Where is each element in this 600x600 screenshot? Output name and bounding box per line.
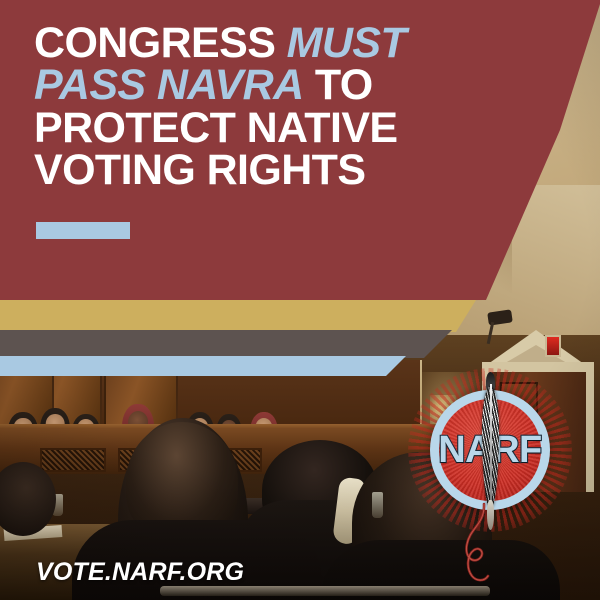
headline-line-4: VOTING RIGHTS (34, 149, 514, 191)
leather-cord-icon (454, 502, 500, 586)
navra-advocacy-poster: CONGRESS MUST PASS NAVRA TO PROTECT NATI… (0, 0, 600, 600)
stripe-band-gray (0, 330, 452, 358)
headline-emphasis-pass-navra: PASS NAVRA (34, 61, 304, 109)
headline-line-3: PROTECT NATIVE (34, 107, 514, 149)
stripe-band-blue (0, 356, 410, 376)
headline-accent-rule (36, 222, 130, 239)
feather-shaft (490, 384, 492, 516)
headline-line-2-plain: TO (304, 61, 373, 109)
campaign-url[interactable]: VOTE.NARF.ORG (36, 558, 244, 587)
narf-logo[interactable]: NARF (424, 384, 556, 516)
headline-line-2: PASS NAVRA TO (34, 64, 514, 106)
headline-emphasis-must: MUST (287, 19, 406, 67)
stripe-band-tan (0, 300, 476, 332)
headline-line-1-plain: CONGRESS (34, 19, 287, 67)
headline-line-1: CONGRESS MUST (34, 22, 514, 64)
poster-headline: CONGRESS MUST PASS NAVRA TO PROTECT NATI… (34, 22, 514, 191)
